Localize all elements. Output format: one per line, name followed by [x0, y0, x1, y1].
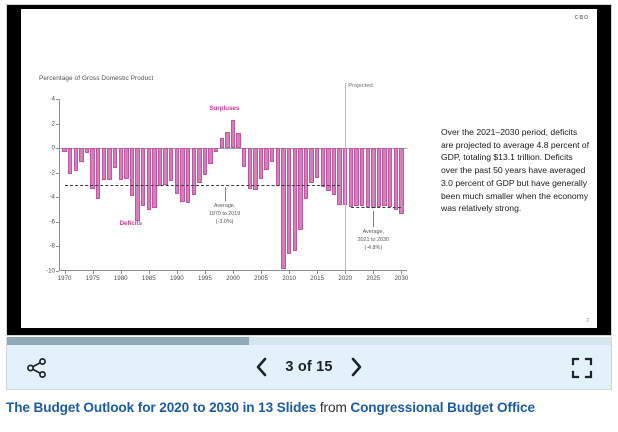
chart-bar — [163, 148, 167, 185]
x-axis-tick-mark — [65, 271, 66, 274]
x-axis-tick-mark — [177, 271, 178, 274]
x-axis-tick-label: 2000 — [218, 275, 248, 282]
x-axis-tick-mark — [289, 271, 290, 274]
projected-average-annotation-line: Average, — [333, 229, 413, 237]
chart-bar — [62, 148, 66, 152]
x-axis-tick-mark — [121, 271, 122, 274]
chart-bar — [147, 148, 151, 209]
next-slide-button[interactable] — [349, 356, 365, 378]
chart-bar — [141, 148, 145, 206]
y-axis-tick-mark — [56, 99, 59, 100]
horizontal-scrollbar[interactable] — [6, 337, 612, 345]
average-reference-line — [351, 207, 402, 208]
x-axis-tick-label: 2025 — [358, 275, 388, 282]
chart-bar — [175, 148, 179, 193]
cbo-logo: CBO — [575, 15, 589, 21]
chart-bar — [354, 148, 358, 206]
chart-bar — [113, 148, 117, 168]
chart-bar — [203, 148, 207, 175]
x-axis-tick-label: 1980 — [106, 275, 136, 282]
fullscreen-button[interactable] — [571, 357, 593, 379]
slide-viewer: CBO 2 Percentage of Gross Domestic Produ… — [0, 0, 618, 432]
caption-title-link[interactable]: The Budget Outlook for 2020 to 2030 in 1… — [6, 400, 316, 415]
historic-average-annotation-line: Average, — [185, 203, 265, 211]
slide-narrative-text: Over the 2021–2030 period, deficits are … — [441, 126, 591, 215]
x-axis-tick-mark — [93, 271, 94, 274]
chart-bar — [96, 148, 100, 198]
x-axis-tick-label: 2015 — [302, 275, 332, 282]
chart-bar — [394, 148, 398, 209]
chart-bar — [236, 133, 240, 148]
chart-bar — [231, 120, 235, 148]
y-axis-tick-label: -10 — [39, 268, 55, 275]
x-axis-tick-mark — [373, 271, 374, 274]
projected-average-annotation-leader — [373, 211, 374, 227]
chart-bar — [197, 148, 201, 182]
x-axis-tick-label: 2020 — [330, 275, 360, 282]
chart-bar — [220, 138, 224, 148]
y-axis-tick-mark — [56, 222, 59, 223]
chart-bar — [180, 148, 184, 202]
slide-frame: CBO 2 Percentage of Gross Domestic Produ… — [6, 4, 612, 336]
y-axis-tick-label: -8 — [39, 243, 55, 250]
chart-bar — [102, 148, 106, 180]
slide-counter: 3 of 15 — [285, 359, 332, 375]
x-axis-tick-label: 2010 — [274, 275, 304, 282]
chevron-right-icon — [349, 356, 364, 378]
y-axis-tick-label: 2 — [39, 120, 55, 127]
chart-bar — [382, 148, 386, 206]
surpluses-label: Surpluses — [209, 105, 239, 112]
y-axis-tick-mark — [56, 246, 59, 247]
chart-bar — [259, 148, 263, 179]
chart-bar — [315, 148, 319, 177]
chart-bar — [377, 148, 381, 207]
x-axis-tick-mark — [205, 271, 206, 274]
historic-average-annotation: Average,1970 to 2019(-3.0%) — [185, 203, 265, 226]
chart-bar — [85, 148, 89, 153]
chart-bar — [304, 148, 308, 198]
historic-average-annotation-line: 1970 to 2019 — [185, 211, 265, 219]
chart-bar — [248, 148, 252, 189]
y-axis-tick-mark — [56, 197, 59, 198]
caption-connector: from — [316, 400, 350, 415]
chart-bar — [270, 148, 274, 162]
x-axis-tick-mark — [401, 271, 402, 274]
x-axis-tick-label: 2005 — [246, 275, 276, 282]
chart-bar — [321, 148, 325, 187]
chart-bar — [371, 148, 375, 208]
projected-average-annotation-line: 2021 to 2030 — [333, 237, 413, 245]
chart-bar — [214, 148, 218, 152]
caption-source-link[interactable]: Congressional Budget Office — [350, 400, 535, 415]
chart-bar — [130, 148, 134, 196]
chart-bar — [337, 148, 341, 205]
previous-slide-button[interactable] — [253, 356, 269, 378]
chart-bar — [298, 148, 302, 230]
caption: The Budget Outlook for 2020 to 2030 in 1… — [6, 400, 612, 415]
fullscreen-icon — [571, 357, 593, 379]
chart-bar — [169, 148, 173, 181]
x-axis-tick-mark — [149, 271, 150, 274]
projected-average-annotation: Average,2021 to 2030(-4.8%) — [333, 229, 413, 252]
chart-bar — [119, 148, 123, 180]
x-axis-tick-mark — [317, 271, 318, 274]
chart-bar — [293, 148, 297, 251]
chart-bar — [360, 148, 364, 206]
y-axis-tick-label: -6 — [39, 218, 55, 225]
chart-bar — [107, 148, 111, 180]
chart-bar — [264, 148, 268, 170]
chart-bar — [186, 148, 190, 203]
chart-bar — [74, 148, 78, 171]
chart-bar — [388, 148, 392, 207]
y-axis-tick-mark — [56, 124, 59, 125]
chart-bar — [124, 148, 128, 179]
chevron-left-icon — [254, 356, 269, 378]
chart-bar — [349, 148, 353, 207]
deficit-surplus-bar-chart: 420-2-4-6-8-1019701975198019851990199520… — [59, 99, 407, 271]
x-axis-tick-label: 1970 — [50, 275, 80, 282]
chart-bar — [253, 148, 257, 190]
chart-units-label: Percentage of Gross Domestic Product — [39, 75, 153, 82]
deficits-label: Deficits — [120, 220, 142, 227]
horizontal-scrollbar-thumb[interactable] — [7, 337, 249, 345]
y-axis-tick-mark — [56, 173, 59, 174]
pager: 3 of 15 — [7, 345, 611, 389]
historic-average-annotation-line: (-3.0%) — [185, 219, 265, 227]
projected-average-annotation-line: (-4.8%) — [333, 245, 413, 253]
slide-canvas: CBO 2 Percentage of Gross Domestic Produ… — [21, 9, 597, 328]
y-axis-tick-mark — [56, 271, 59, 272]
average-reference-line — [65, 185, 340, 186]
x-axis-tick-mark — [261, 271, 262, 274]
chart-bar — [309, 148, 313, 182]
chart-bar — [287, 148, 291, 254]
x-axis-tick-label: 1990 — [162, 275, 192, 282]
slide-navigation-bar: 3 of 15 — [6, 345, 612, 390]
y-axis-tick-label: 4 — [39, 96, 55, 103]
y-axis — [59, 99, 60, 271]
chart-bar — [192, 148, 196, 195]
chart-bar — [208, 148, 212, 164]
chart-bar — [281, 148, 285, 268]
chart-bar — [399, 148, 403, 214]
y-axis-tick-label: -2 — [39, 169, 55, 176]
x-axis-tick-mark — [233, 271, 234, 274]
x-axis-tick-label: 1995 — [190, 275, 220, 282]
chart-bar — [332, 148, 336, 195]
y-axis-tick-label: -4 — [39, 194, 55, 201]
chart-bar — [90, 148, 94, 189]
slide-page-number: 2 — [586, 318, 589, 324]
chart-bar — [158, 148, 162, 186]
chart-bar — [242, 148, 246, 166]
projected-label: Projected — [348, 83, 373, 89]
chart-bar — [68, 148, 72, 174]
chart-bar — [152, 148, 156, 208]
chart-bar — [79, 148, 83, 162]
x-axis-tick-label: 1975 — [78, 275, 108, 282]
chart-bar — [366, 148, 370, 207]
historic-average-annotation-leader — [225, 187, 226, 201]
x-axis-tick-mark — [345, 271, 346, 274]
chart-bar — [276, 148, 280, 186]
y-axis-tick-label: 0 — [39, 145, 55, 152]
x-axis-tick-label: 1985 — [134, 275, 164, 282]
x-axis-tick-label: 2030 — [386, 275, 416, 282]
chart-bar — [225, 132, 229, 148]
